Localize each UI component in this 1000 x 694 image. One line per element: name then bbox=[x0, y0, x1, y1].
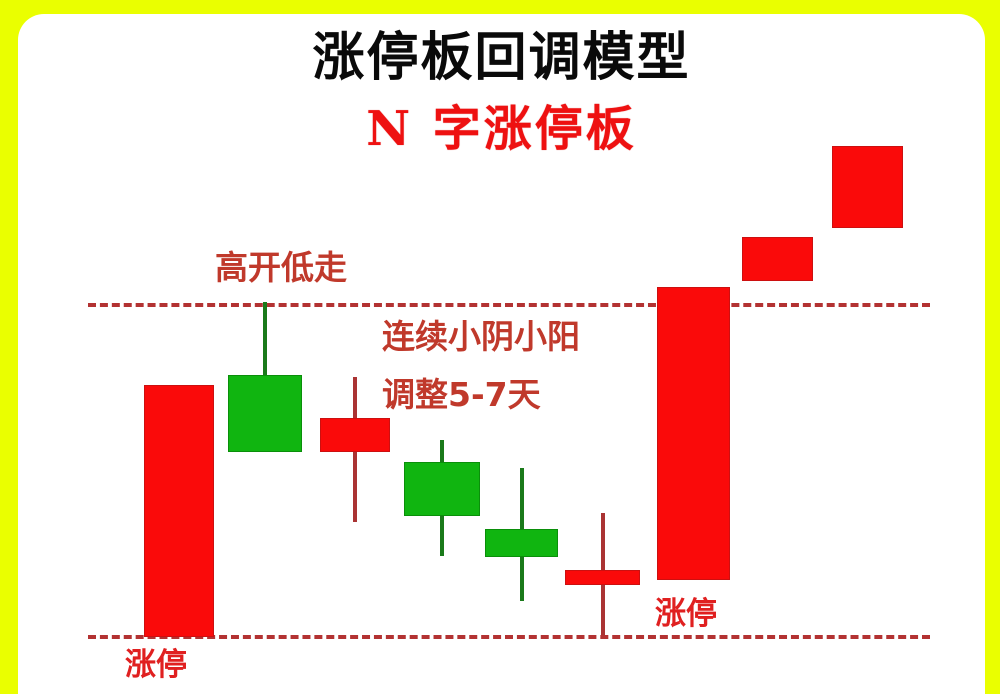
candle-body bbox=[144, 385, 214, 637]
label-limit-up-left: 涨停 bbox=[125, 648, 187, 682]
gridline-resistance-line bbox=[88, 303, 930, 307]
candle-continuation-red-2 bbox=[832, 146, 903, 228]
white-card: 涨停板回调模型 N 字涨停板 高开低走连续小阴小阳调整5-7天涨停涨停 bbox=[18, 14, 985, 694]
candle-continuation-red-1 bbox=[742, 237, 813, 281]
candle-body bbox=[565, 570, 640, 585]
label-limit-up-right: 涨停 bbox=[655, 597, 717, 631]
candle-limit-up-second-big-red bbox=[657, 287, 730, 580]
candle-body bbox=[404, 462, 480, 516]
gridline-support-line bbox=[88, 635, 930, 639]
candle-body bbox=[485, 529, 558, 557]
candle-gap-up-close-down-green bbox=[228, 302, 302, 452]
candle-body bbox=[742, 237, 813, 281]
poster-frame: 涨停板回调模型 N 字涨停板 高开低走连续小阴小阳调整5-7天涨停涨停 bbox=[0, 0, 1000, 694]
annotation-gap-up-close-down: 高开低走 bbox=[215, 250, 347, 286]
candle-small-green-2 bbox=[485, 468, 558, 601]
annotation-adjust-days: 调整5-7天 bbox=[382, 377, 541, 413]
candle-limit-up-big-red bbox=[144, 385, 214, 637]
candle-body bbox=[657, 287, 730, 580]
candle-small-red-1 bbox=[320, 377, 390, 522]
annotation-consecutive-small-candles: 连续小阴小阳 bbox=[382, 319, 580, 355]
candle-small-red-2 bbox=[565, 513, 640, 635]
watermark bbox=[799, 642, 979, 684]
candle-body bbox=[320, 418, 390, 452]
candle-body bbox=[832, 146, 903, 228]
candlestick-chart: 高开低走连续小阴小阳调整5-7天涨停涨停 bbox=[18, 14, 985, 694]
candle-body bbox=[228, 375, 302, 452]
candle-small-green-1 bbox=[404, 440, 480, 556]
